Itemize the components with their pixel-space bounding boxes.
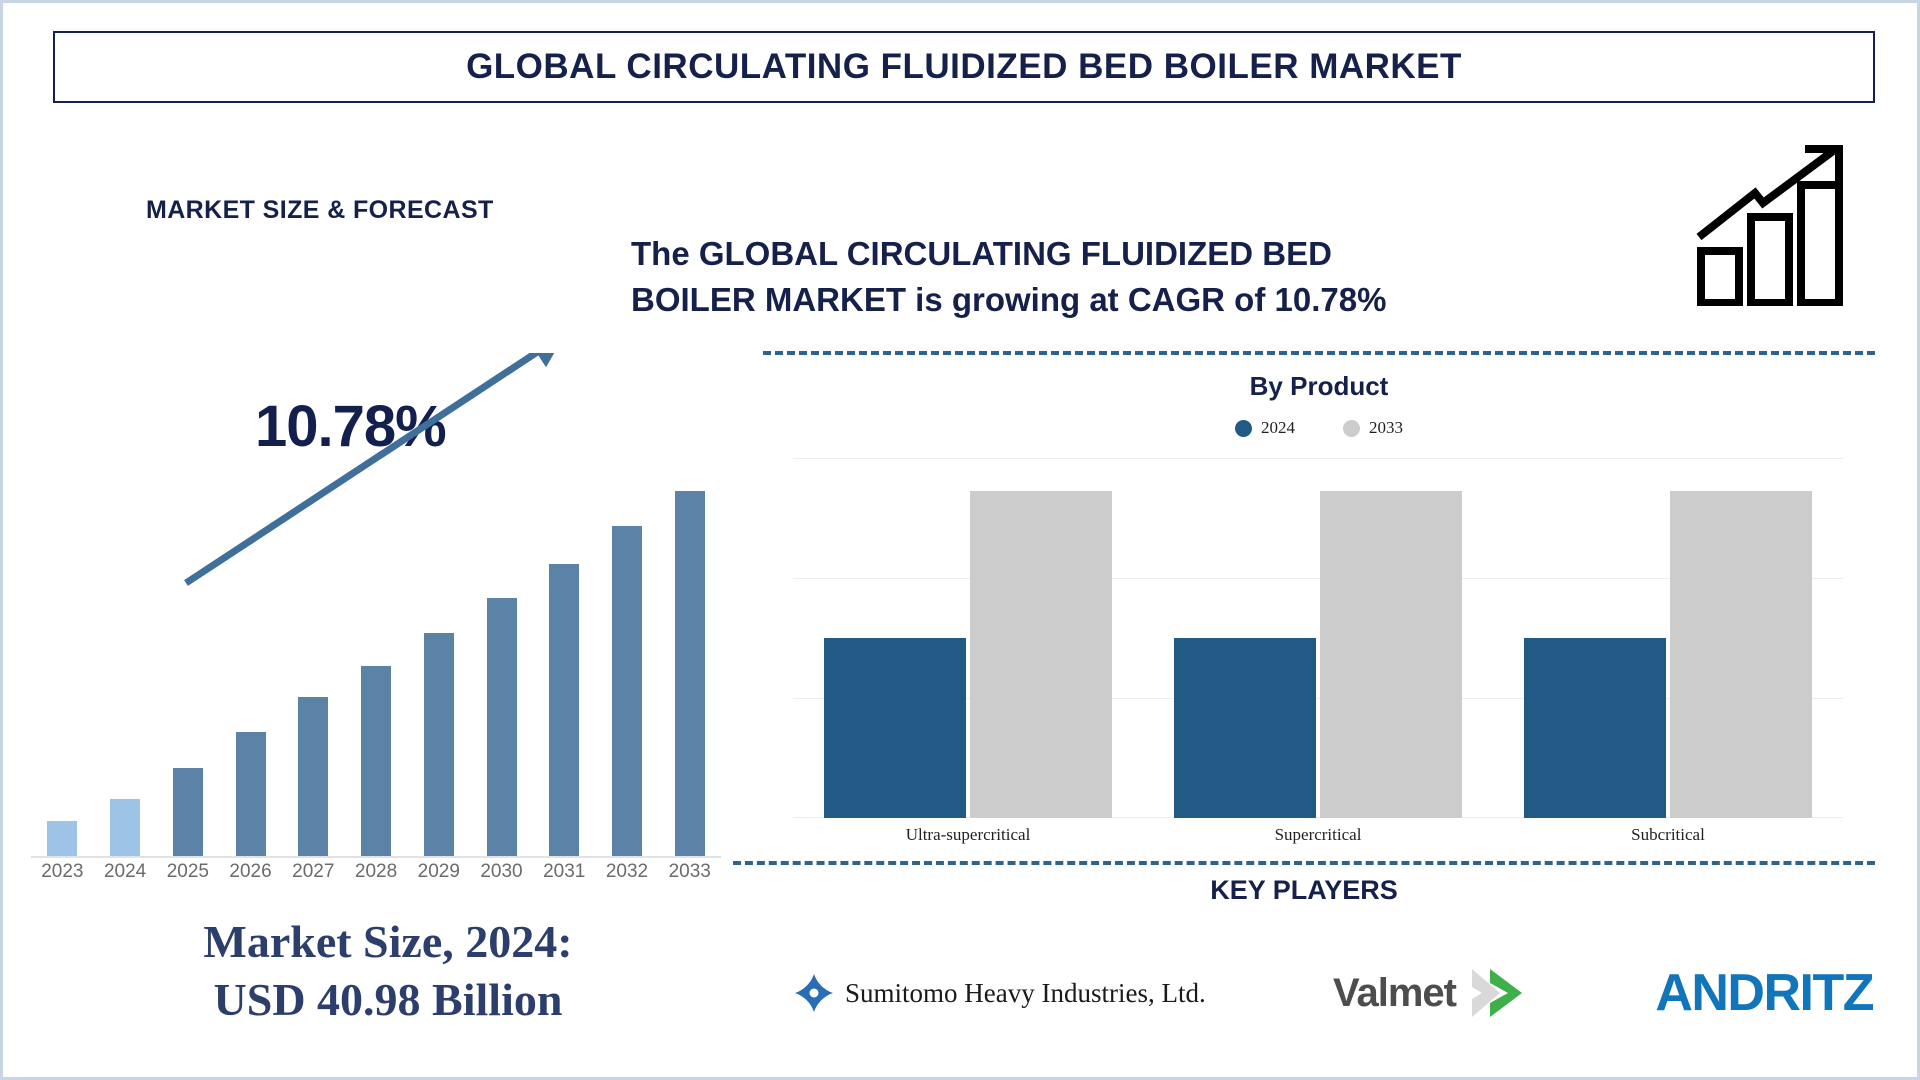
player-name: Valmet [1333,971,1456,1016]
page-title: GLOBAL CIRCULATING FLUIDIZED BED BOILER … [466,47,1462,87]
forecast-bar-column [533,386,596,856]
player-logo-sumitomo: Sumitomo Heavy Industries, Ltd. [793,972,1206,1014]
forecast-bar-column [345,386,408,856]
legend-item[interactable]: 2024 [1235,418,1295,438]
forecast-bar [47,821,77,856]
by-product-title: By Product [763,371,1875,402]
forecast-bar-column [94,386,157,856]
year-tick-label: 2032 [596,861,659,883]
market-forecast-bar-chart [31,373,721,858]
product-bar-group [1493,458,1843,818]
product-bar-group [793,458,1143,818]
forecast-bar [110,799,140,856]
forecast-bar-column [596,386,659,856]
headline-text: The GLOBAL CIRCULATING FLUIDIZED BED BOI… [631,231,1691,322]
year-tick-label: 2031 [533,861,596,883]
forecast-bar [236,732,266,856]
divider-bottom [733,861,1875,865]
legend-swatch-icon [1343,420,1360,437]
product-bars-container [793,458,1843,818]
forecast-bar-column [658,386,721,856]
market-size-line-1: Market Size, 2024: [78,913,698,971]
forecast-bars-container [31,386,721,856]
legend-label: 2033 [1369,418,1403,438]
forecast-bar [424,633,454,856]
forecast-bar [612,526,642,856]
forecast-bar [549,564,579,856]
valmet-chevron-icon [1466,965,1528,1021]
growth-chart-icon [1693,141,1873,306]
forecast-bar [361,666,391,856]
product-category-label: Ultra-supercritical [793,825,1143,845]
forecast-bar-column [31,386,94,856]
year-tick-label: 2027 [282,861,345,883]
market-size-forecast-label: MARKET SIZE & FORECAST [146,196,494,225]
product-bar-2024 [824,638,966,818]
infographic-page: GLOBAL CIRCULATING FLUIDIZED BED BOILER … [0,0,1920,1080]
headline-line-1: The GLOBAL CIRCULATING FLUIDIZED BED [631,231,1691,277]
forecast-bar [298,697,328,856]
player-name: Sumitomo Heavy Industries, Ltd. [845,978,1206,1009]
by-product-legend: 20242033 [763,418,1875,438]
product-category-label: Subcritical [1493,825,1843,845]
product-bar-2033 [1320,491,1462,818]
product-category-axis: Ultra-supercriticalSupercriticalSubcriti… [793,825,1843,845]
player-logo-andritz: ANDRITZ [1655,963,1873,1023]
title-banner: GLOBAL CIRCULATING FLUIDIZED BED BOILER … [53,31,1875,103]
player-logo-valmet: Valmet [1333,965,1528,1021]
chart-baseline [31,856,721,858]
product-bar-group [1143,458,1493,818]
legend-item[interactable]: 2033 [1343,418,1403,438]
legend-swatch-icon [1235,420,1252,437]
year-tick-label: 2026 [219,861,282,883]
forecast-bar-column [470,386,533,856]
key-players-row: Sumitomo Heavy Industries, Ltd. Valmet A… [793,953,1873,1033]
forecast-year-axis: 2023202420252026202720282029203020312032… [31,861,721,883]
market-size-line-2: USD 40.98 Billion [78,971,698,1029]
divider-top [763,351,1875,355]
product-category-label: Supercritical [1143,825,1493,845]
forecast-bar [675,491,705,856]
sumitomo-diamond-icon [793,972,835,1014]
year-tick-label: 2028 [345,861,408,883]
product-bar-2024 [1524,638,1666,818]
year-tick-label: 2025 [156,861,219,883]
player-name: ANDRITZ [1655,963,1873,1023]
year-tick-label: 2023 [31,861,94,883]
forecast-bar-column [282,386,345,856]
year-tick-label: 2030 [470,861,533,883]
key-players-title: KEY PLAYERS [733,875,1875,906]
headline-line-2: BOILER MARKET is growing at CAGR of 10.7… [631,277,1691,323]
forecast-bar [487,598,517,856]
by-product-bar-chart [793,458,1843,818]
forecast-bar-column [407,386,470,856]
forecast-bar-column [219,386,282,856]
market-size-callout: Market Size, 2024: USD 40.98 Billion [78,913,698,1029]
forecast-bar-column [156,386,219,856]
legend-label: 2024 [1261,418,1295,438]
year-tick-label: 2024 [94,861,157,883]
product-bar-2024 [1174,638,1316,818]
product-bar-2033 [970,491,1112,818]
product-bar-2033 [1670,491,1812,818]
forecast-bar [173,768,203,856]
year-tick-label: 2033 [658,861,721,883]
year-tick-label: 2029 [407,861,470,883]
